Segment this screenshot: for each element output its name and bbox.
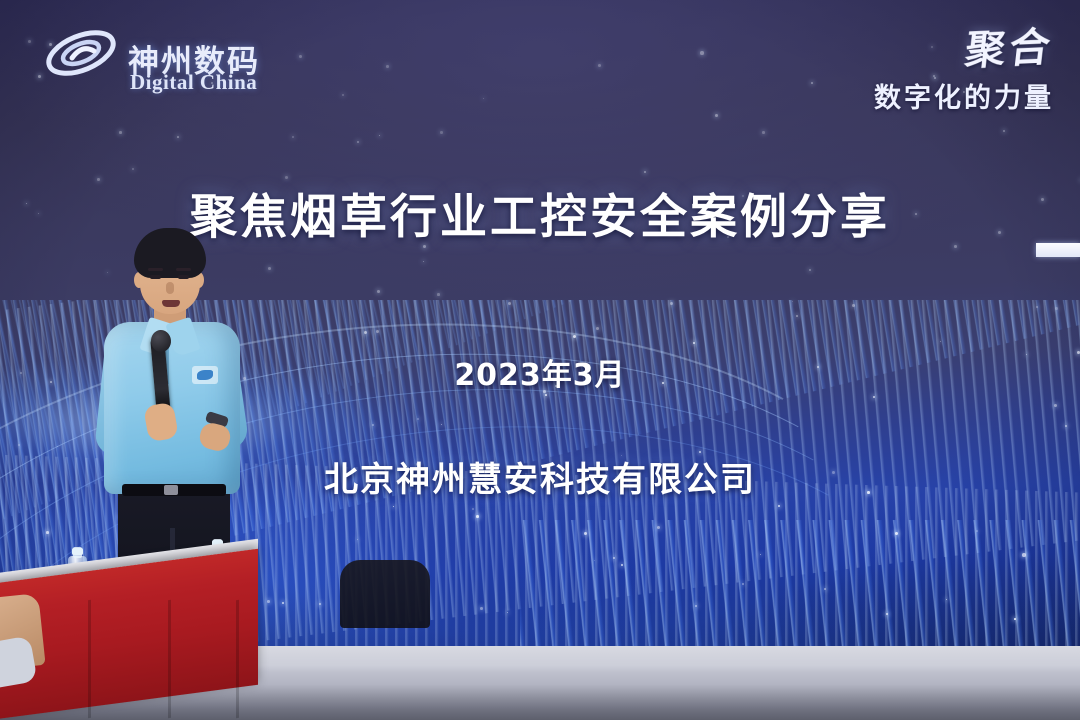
sparkle-dot bbox=[852, 304, 855, 307]
sparkle-dot bbox=[693, 342, 695, 344]
speaker-mouth bbox=[162, 300, 180, 307]
screen-edge-highlight bbox=[1036, 243, 1080, 257]
speaker-chest-logo bbox=[192, 366, 218, 384]
sparkle-dot bbox=[976, 530, 978, 532]
event-slogan: 聚合 数字化的力量 bbox=[794, 16, 1054, 116]
logo-name-en: Digital China bbox=[130, 70, 257, 95]
speaker-eyebrow bbox=[148, 268, 163, 271]
table-cloth-fold bbox=[88, 600, 91, 718]
speaker-belt-buckle bbox=[164, 485, 178, 495]
sparkle-dot bbox=[573, 335, 576, 338]
slogan-subtitle: 数字化的力量 bbox=[794, 76, 1054, 115]
sparkle-dot bbox=[873, 396, 875, 398]
sparkle-dot bbox=[423, 261, 424, 262]
sparkle-dot bbox=[483, 98, 484, 99]
speaker-eye bbox=[150, 275, 161, 279]
sparkle-dot bbox=[613, 557, 615, 559]
sparkle-dot bbox=[476, 515, 479, 518]
sparkle-dot bbox=[377, 290, 380, 293]
slogan-calligraphy: 聚合 bbox=[962, 14, 1057, 76]
conference-photo: 神州数码 Digital China 聚合 数字化的力量 聚焦烟草行业工控安全案… bbox=[0, 0, 1080, 720]
sparkle-dot bbox=[824, 588, 826, 590]
speaker-hair bbox=[134, 228, 206, 278]
digital-china-logo: 神州数码 Digital China bbox=[42, 18, 292, 90]
speaker-nose bbox=[166, 282, 174, 294]
sparkle-dot bbox=[1036, 306, 1038, 308]
vertical-light-streaks bbox=[520, 520, 1080, 650]
sparkle-dot bbox=[1054, 404, 1057, 407]
sparkle-dot bbox=[357, 141, 359, 143]
sparkle-dot bbox=[596, 327, 599, 330]
sparkle-dot bbox=[762, 131, 765, 134]
sparkle-dot bbox=[440, 131, 443, 134]
sparkle-dot bbox=[545, 394, 547, 396]
sparkle-dot bbox=[386, 65, 389, 68]
sparkle-dot bbox=[267, 600, 270, 603]
sparkle-dot bbox=[1014, 618, 1016, 620]
sparkle-dot bbox=[472, 508, 474, 510]
bottle-cap bbox=[72, 548, 83, 555]
sparkle-dot bbox=[119, 131, 122, 134]
sparkle-dot bbox=[132, 168, 134, 170]
sparkle-dot bbox=[886, 613, 888, 615]
swirl-galaxy-icon bbox=[42, 24, 120, 82]
sparkle-dot bbox=[357, 539, 358, 540]
sparkle-dot bbox=[700, 51, 704, 55]
sparkle-dot bbox=[644, 171, 646, 173]
sparkle-dot bbox=[895, 532, 898, 535]
speaker-eyebrow bbox=[176, 268, 191, 271]
sparkle-dot bbox=[177, 136, 179, 138]
background-figure bbox=[340, 560, 430, 628]
sparkle-dot bbox=[437, 293, 440, 296]
sparkle-dot bbox=[1055, 307, 1058, 310]
sparkle-dot bbox=[1022, 553, 1026, 557]
sparkle-dot bbox=[46, 531, 49, 534]
sparkle-dot bbox=[376, 330, 379, 333]
sparkle-dot bbox=[393, 506, 394, 507]
sparkle-dot bbox=[796, 315, 798, 317]
speaker-eye bbox=[178, 275, 189, 279]
table-cloth-fold bbox=[236, 600, 239, 718]
sparkle-dot bbox=[480, 607, 483, 610]
table-cloth-fold bbox=[168, 600, 171, 718]
